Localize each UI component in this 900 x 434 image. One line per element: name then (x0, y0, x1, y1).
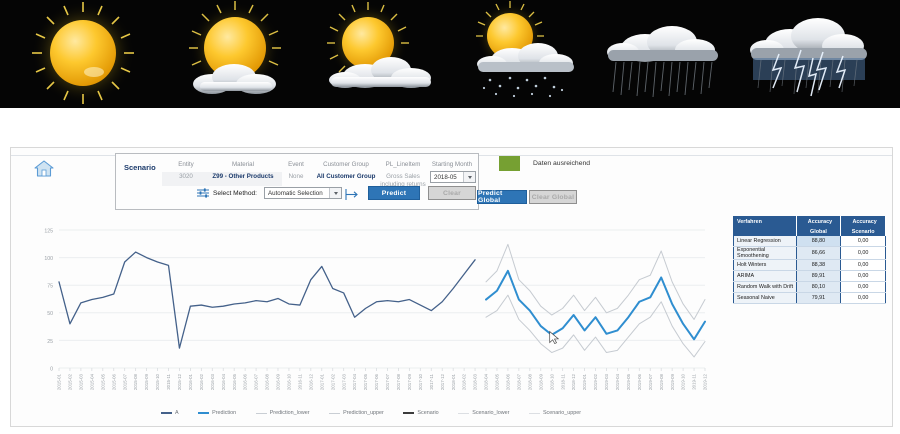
legend-swatch (256, 413, 267, 414)
y-axis-tick: 0 (50, 366, 53, 372)
x-axis-label: 2019-10 (681, 373, 686, 390)
x-axis-label: 2016-06 (243, 373, 248, 390)
cell-method: Exponential Smoothening (734, 247, 797, 260)
sun-behind-large-cloud-icon (305, 0, 455, 108)
legend-item[interactable]: Scenario_upper (529, 410, 581, 416)
x-axis-label: 2019-07 (648, 373, 653, 390)
x-axis-label: 2019-12 (703, 373, 708, 390)
x-axis-label: 2015-03 (78, 373, 83, 390)
clear-global-button[interactable]: Clear Global (529, 190, 577, 204)
method-select-value: Automatic Selection (268, 190, 323, 197)
cell-method: Seasonal Naive (734, 293, 797, 304)
x-axis-label: 2015-01 (57, 373, 62, 390)
x-axis-label: 2015-02 (68, 373, 73, 390)
legend-label: Scenario_upper (543, 410, 581, 416)
legend-swatch (198, 412, 209, 414)
cell-accuracy-global: 79,91 (796, 293, 841, 304)
chart-legend: APredictionPrediction_lowerPrediction_up… (161, 406, 581, 420)
field-starting-month: Starting Month (428, 160, 476, 169)
x-axis-label: 2017-03 (341, 373, 346, 390)
legend-label: Prediction_lower (270, 410, 310, 416)
chart-canvas: 02550751001252015-012015-022015-032015-0… (25, 224, 715, 420)
x-axis-label: 2018-02 (462, 373, 467, 390)
starting-month-value: 2018-05 (434, 174, 457, 181)
cell-method: Holt Winters (734, 260, 797, 271)
x-axis-label: 2017-12 (440, 373, 445, 390)
x-axis-label: 2017-05 (363, 373, 368, 390)
x-axis-label: 2018-05 (495, 373, 500, 390)
x-axis-label: 2015-11 (166, 373, 171, 389)
y-axis-tick: 100 (44, 256, 53, 262)
goal-band: Goal: High accuracy of the prediction to… (0, 108, 900, 148)
field-entity-value: 3020 (162, 173, 210, 181)
x-axis-label: 2015-10 (155, 373, 160, 390)
x-axis-label: 2016-03 (210, 373, 215, 390)
x-axis-label: 2018-06 (506, 373, 511, 390)
chevron-down-icon[interactable] (463, 172, 475, 182)
legend-item[interactable]: Scenario_lower (458, 410, 509, 416)
field-entity[interactable]: Entity 3020 (162, 160, 210, 181)
table-row[interactable]: ARIMA89,910,00 (734, 271, 886, 282)
x-axis-label: 2019-11 (692, 373, 697, 389)
legend-label: A (175, 410, 179, 416)
forecast-chart: 02550751001252015-012015-022015-032015-0… (25, 224, 715, 420)
cell-accuracy-scenario: 0,00 (841, 247, 886, 260)
legend-swatch (458, 413, 469, 414)
clear-button[interactable]: Clear (428, 186, 476, 200)
field-pl-lineitem-label: PL_LineItem (374, 160, 432, 169)
status-legend: Daten ausreichend (499, 156, 590, 171)
field-event[interactable]: Event None (276, 160, 316, 181)
legend-item[interactable]: Prediction (198, 410, 236, 416)
field-customer-group-value: All Customer Group (316, 173, 376, 181)
x-axis-label: 2017-07 (385, 373, 390, 390)
scenario-title: Scenario (124, 163, 156, 172)
method-select[interactable]: Automatic Selection (264, 187, 342, 199)
predict-global-button[interactable]: Predict Global (477, 190, 527, 204)
scenario-panel: Scenario Entity 3020 Material Z99 - Othe… (115, 153, 479, 210)
x-axis-label: 2017-04 (352, 373, 357, 390)
x-axis-label: 2018-04 (484, 373, 489, 390)
weather-banner (0, 0, 900, 108)
cell-accuracy-scenario: 0,00 (841, 236, 886, 247)
x-axis-label: 2017-09 (407, 373, 412, 390)
cell-method: ARIMA (734, 271, 797, 282)
x-axis-label: 2019-05 (626, 373, 631, 390)
th-sub-scenario: Scenario (841, 227, 886, 236)
x-axis-label: 2015-09 (144, 373, 149, 390)
th-sub-blank (734, 227, 797, 236)
series-line-prediction_upper (486, 244, 705, 319)
thunderstorm-cloud-icon (735, 0, 885, 108)
x-axis-label: 2015-07 (122, 373, 127, 390)
x-axis-label: 2016-09 (276, 373, 281, 390)
legend-label: Prediction_upper (343, 410, 384, 416)
status-label: Daten ausreichend (533, 160, 590, 167)
table-row[interactable]: Holt Winters88,380,00 (734, 260, 886, 271)
th-sub-global: Global (796, 227, 841, 236)
legend-swatch (529, 413, 540, 414)
table-header-row: Verfahren Accuracy Accuracy (734, 217, 886, 228)
x-axis-label: 2017-06 (374, 373, 379, 390)
field-event-value: None (276, 173, 316, 181)
x-axis-label: 2015-05 (100, 373, 105, 390)
x-axis-label: 2017-01 (319, 373, 324, 390)
sun-behind-rain-cloud-icon (450, 0, 600, 108)
x-axis-label: 2016-12 (308, 373, 313, 390)
x-axis-label: 2016-11 (297, 373, 302, 389)
cell-accuracy-scenario: 0,00 (841, 260, 886, 271)
x-axis-label: 2019-01 (582, 373, 587, 390)
accuracy-table: Verfahren Accuracy Accuracy Global Scena… (733, 216, 886, 304)
field-customer-group[interactable]: Customer Group All Customer Group (316, 160, 376, 181)
field-material[interactable]: Material Z99 - Other Products (212, 160, 274, 181)
legend-label: Prediction (212, 410, 236, 416)
table-subheader-row: Global Scenario (734, 227, 886, 236)
x-axis-label: 2016-02 (199, 373, 204, 390)
x-axis-label: 2016-08 (265, 373, 270, 390)
x-axis-label: 2018-12 (571, 373, 576, 390)
y-axis-tick: 25 (47, 339, 53, 345)
legend-swatch (329, 413, 340, 414)
x-axis-label: 2016-04 (221, 373, 226, 390)
legend-label: Scenario (417, 410, 438, 416)
cell-accuracy-scenario: 0,00 (841, 293, 886, 304)
arrow-right-icon (344, 188, 360, 201)
th-accuracy-1: Accuracy (796, 217, 841, 228)
legend-label: Scenario_lower (472, 410, 509, 416)
field-entity-label: Entity (162, 160, 210, 169)
predict-button[interactable]: Predict (368, 186, 420, 200)
x-axis-label: 2017-10 (418, 373, 423, 390)
x-axis-label: 2016-10 (287, 373, 292, 390)
table-row[interactable]: Random Walk with Drift80,100,00 (734, 282, 886, 293)
th-accuracy-2: Accuracy (841, 217, 886, 228)
legend-item[interactable]: A (161, 410, 179, 416)
y-axis-tick: 50 (47, 311, 53, 317)
field-starting-month-label: Starting Month (428, 160, 476, 169)
x-axis-label: 2019-06 (637, 373, 642, 390)
x-axis-label: 2018-10 (549, 373, 554, 390)
x-axis-label: 2016-01 (188, 373, 193, 390)
forecast-dashboard: Scenario Entity 3020 Material Z99 - Othe… (10, 147, 893, 427)
x-axis-label: 2018-11 (560, 373, 565, 389)
method-row: Select Method: (196, 187, 261, 199)
x-axis-label: 2015-08 (133, 373, 138, 390)
table-row[interactable]: Exponential Smoothening86,660,00 (734, 247, 886, 260)
series-line-a (59, 252, 475, 348)
cell-accuracy-global: 86,66 (796, 247, 841, 260)
x-axis-label: 2017-02 (330, 373, 335, 390)
legend-item[interactable]: Prediction_lower (256, 410, 310, 416)
status-swatch (499, 156, 520, 171)
x-axis-label: 2019-02 (593, 373, 598, 390)
x-axis-label: 2019-08 (659, 373, 664, 390)
screenshot-root: Goal: High accuracy of the prediction to… (0, 0, 900, 434)
cell-accuracy-global: 89,91 (796, 271, 841, 282)
table-row[interactable]: Linear Regression88,800,00 (734, 236, 886, 247)
cell-accuracy-global: 88,80 (796, 236, 841, 247)
x-axis-label: 2018-09 (538, 373, 543, 390)
x-axis-label: 2015-06 (111, 373, 116, 390)
x-axis-label: 2017-08 (396, 373, 401, 390)
cell-accuracy-global: 88,38 (796, 260, 841, 271)
chevron-down-icon[interactable] (329, 188, 341, 198)
cell-accuracy-scenario: 0,00 (841, 282, 886, 293)
x-axis-label: 2018-03 (473, 373, 478, 390)
legend-item[interactable]: Prediction_upper (329, 410, 384, 416)
legend-swatch (161, 412, 172, 414)
select-method-label: Select Method: (213, 190, 257, 197)
starting-month-select[interactable]: 2018-05 (430, 171, 476, 183)
field-customer-group-label: Customer Group (316, 160, 376, 169)
table-row[interactable]: Seasonal Naive79,910,00 (734, 293, 886, 304)
legend-item[interactable]: Scenario (403, 410, 438, 416)
sun-icon (8, 0, 158, 108)
x-axis-label: 2018-08 (527, 373, 532, 390)
home-icon[interactable] (27, 156, 61, 180)
sun-behind-cloud-icon (160, 0, 310, 108)
th-verfahren: Verfahren (734, 217, 797, 228)
rain-cloud-icon (590, 0, 740, 108)
y-axis-tick: 125 (44, 228, 53, 234)
cell-accuracy-scenario: 0,00 (841, 271, 886, 282)
accuracy-table-body: Linear Regression88,800,00Exponential Sm… (734, 236, 886, 304)
filter-sliders-icon[interactable] (196, 187, 210, 199)
x-axis-label: 2015-04 (89, 373, 94, 390)
x-axis-label: 2018-07 (516, 373, 521, 390)
x-axis-label: 2015-12 (177, 373, 182, 390)
x-axis-label: 2019-09 (670, 373, 675, 390)
field-pl-lineitem[interactable]: PL_LineItem Gross Sales including return… (374, 160, 432, 189)
x-axis-label: 2018-01 (451, 373, 456, 390)
x-axis-label: 2016-05 (232, 373, 237, 390)
cell-accuracy-global: 80,10 (796, 282, 841, 293)
field-event-label: Event (276, 160, 316, 169)
field-material-label: Material (212, 160, 274, 169)
y-axis-tick: 75 (47, 284, 53, 290)
cell-method: Random Walk with Drift (734, 282, 797, 293)
cell-method: Linear Regression (734, 236, 797, 247)
x-axis-label: 2019-03 (604, 373, 609, 390)
legend-swatch (403, 412, 414, 414)
x-axis-label: 2019-04 (615, 373, 620, 390)
x-axis-label: 2017-11 (429, 373, 434, 389)
field-material-value: Z99 - Other Products (212, 173, 274, 181)
x-axis-label: 2016-07 (254, 373, 259, 390)
